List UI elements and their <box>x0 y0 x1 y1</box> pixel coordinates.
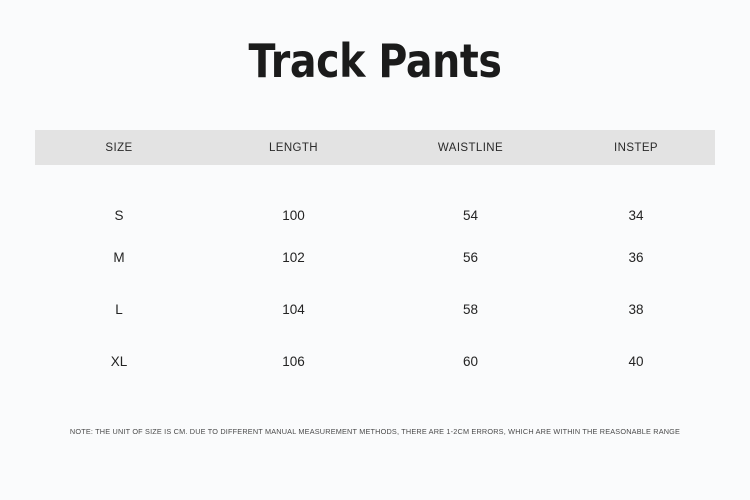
cell-instep: 38 <box>557 283 715 335</box>
measurement-note: NOTE: THE UNIT OF SIZE IS CM. DUE TO DIF… <box>0 427 750 436</box>
column-header-waistline: WAISTLINE <box>384 130 557 165</box>
cell-waistline: 60 <box>384 335 557 387</box>
cell-waistline: 56 <box>384 231 557 283</box>
table-row: XL 106 60 40 <box>35 335 715 387</box>
cell-instep: 40 <box>557 335 715 387</box>
column-header-size: SIZE <box>35 130 203 165</box>
cell-waistline: 58 <box>384 283 557 335</box>
cell-size: L <box>35 283 203 335</box>
cell-size: S <box>35 165 203 231</box>
table-row: M 102 56 36 <box>35 231 715 283</box>
cell-size: XL <box>35 335 203 387</box>
cell-length: 102 <box>203 231 384 283</box>
cell-instep: 36 <box>557 231 715 283</box>
size-table-container: SIZE LENGTH WAISTLINE INSTEP S 100 54 34… <box>35 130 715 387</box>
column-header-instep: INSTEP <box>557 130 715 165</box>
table-header-row: SIZE LENGTH WAISTLINE INSTEP <box>35 130 715 165</box>
cell-instep: 34 <box>557 165 715 231</box>
page-title: Track Pants <box>53 33 698 89</box>
table-header: SIZE LENGTH WAISTLINE INSTEP <box>35 130 715 165</box>
cell-length: 100 <box>203 165 384 231</box>
cell-size: M <box>35 231 203 283</box>
column-header-length: LENGTH <box>203 130 384 165</box>
table-row: S 100 54 34 <box>35 165 715 231</box>
cell-waistline: 54 <box>384 165 557 231</box>
size-table: SIZE LENGTH WAISTLINE INSTEP S 100 54 34… <box>35 130 715 387</box>
size-chart: Track Pants SIZE LENGTH WAISTLINE INSTEP… <box>0 0 750 500</box>
table-body: S 100 54 34 M 102 56 36 L 104 58 38 <box>35 165 715 387</box>
cell-length: 104 <box>203 283 384 335</box>
table-row: L 104 58 38 <box>35 283 715 335</box>
cell-length: 106 <box>203 335 384 387</box>
